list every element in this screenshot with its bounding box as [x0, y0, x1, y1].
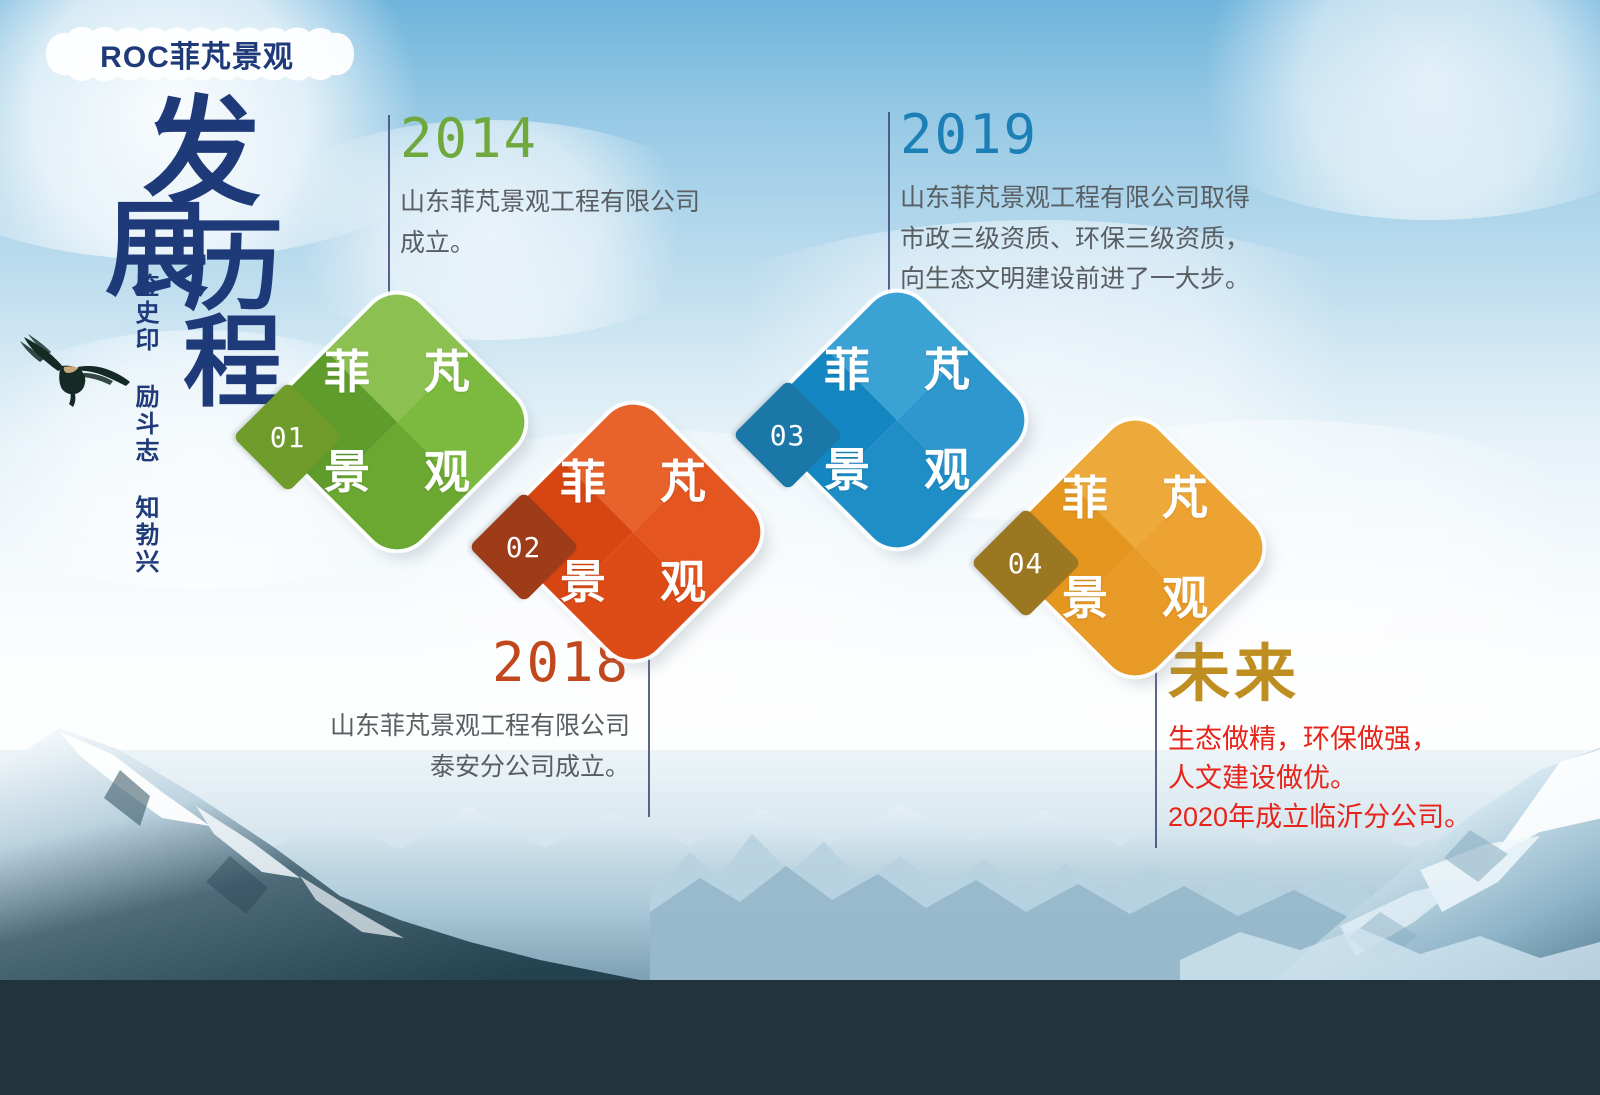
milestone-badge-01[interactable]: 菲 芃 景 观 01	[297, 322, 497, 522]
title-subtitle: 鉴史印 励斗志 知勃兴	[127, 273, 161, 576]
entry-year-2019: 2019	[900, 108, 1320, 162]
milestone-badge-04[interactable]: 菲 芃 景 观 04	[1035, 448, 1235, 648]
entry-desc-line: 山东菲芃景观工程有限公司	[300, 706, 630, 747]
milestone-badge-03[interactable]: 菲 芃 景 观 03	[797, 320, 997, 520]
timeline-entry-2019: 2019 山东菲芃景观工程有限公司取得 市政三级资质、环保三级资质， 向生态文明…	[900, 108, 1320, 300]
future-line: 2020年成立临沂分公司。	[1168, 798, 1568, 837]
timeline-entry-future: 未来 生态做精，环保做强， 人文建设做优。 2020年成立临沂分公司。	[1168, 644, 1568, 837]
entry-desc-2014: 山东菲芃景观工程有限公司 成立。	[400, 182, 740, 263]
entry-desc-line: 泰安分公司成立。	[300, 747, 630, 788]
title-char-3: 历	[183, 217, 283, 317]
badge-number: 02	[506, 531, 542, 564]
milestone-badge-02[interactable]: 菲 芃 景 观 02	[533, 432, 733, 632]
entry-desc-line: 成立。	[400, 223, 740, 264]
entry-desc-2019: 山东菲芃景观工程有限公司取得 市政三级资质、环保三级资质， 向生态文明建设前进了…	[900, 178, 1320, 300]
timeline-entry-2014: 2014 山东菲芃景观工程有限公司 成立。	[400, 112, 740, 263]
entry-desc-line: 山东菲芃景观工程有限公司	[400, 182, 740, 223]
future-line: 生态做精，环保做强，	[1168, 720, 1568, 759]
entry-year-2014: 2014	[400, 112, 740, 166]
page-title: 发 展 历 程 鉴史印 励斗志 知勃兴	[105, 95, 315, 595]
timeline-entry-2018: 2018 山东菲芃景观工程有限公司 泰安分公司成立。	[300, 636, 630, 787]
entry-desc-line: 向生态文明建设前进了一大步。	[900, 259, 1320, 300]
title-char-4: 程	[183, 313, 283, 413]
badge-number: 03	[770, 419, 806, 452]
entry-desc-line: 山东菲芃景观工程有限公司取得	[900, 178, 1320, 219]
entry-desc-line: 市政三级资质、环保三级资质，	[900, 219, 1320, 260]
brand-tab-label: ROC菲芃景观	[100, 32, 294, 76]
entry-year-2018: 2018	[300, 636, 630, 690]
poster-canvas: ROC菲芃景观 发 展 历 程 鉴史印 励斗志 知勃兴 2014 山东菲芃景观工…	[0, 0, 1600, 1095]
footer-bar	[0, 980, 1600, 1095]
entry-desc-2018: 山东菲芃景观工程有限公司 泰安分公司成立。	[300, 706, 630, 787]
brand-tab[interactable]: ROC菲芃景观	[32, 26, 362, 82]
future-title: 未来	[1168, 644, 1568, 706]
badge-number: 04	[1008, 547, 1044, 580]
future-line: 人文建设做优。	[1168, 759, 1568, 798]
future-text: 生态做精，环保做强， 人文建设做优。 2020年成立临沂分公司。	[1168, 720, 1568, 837]
badge-number: 01	[270, 421, 306, 454]
